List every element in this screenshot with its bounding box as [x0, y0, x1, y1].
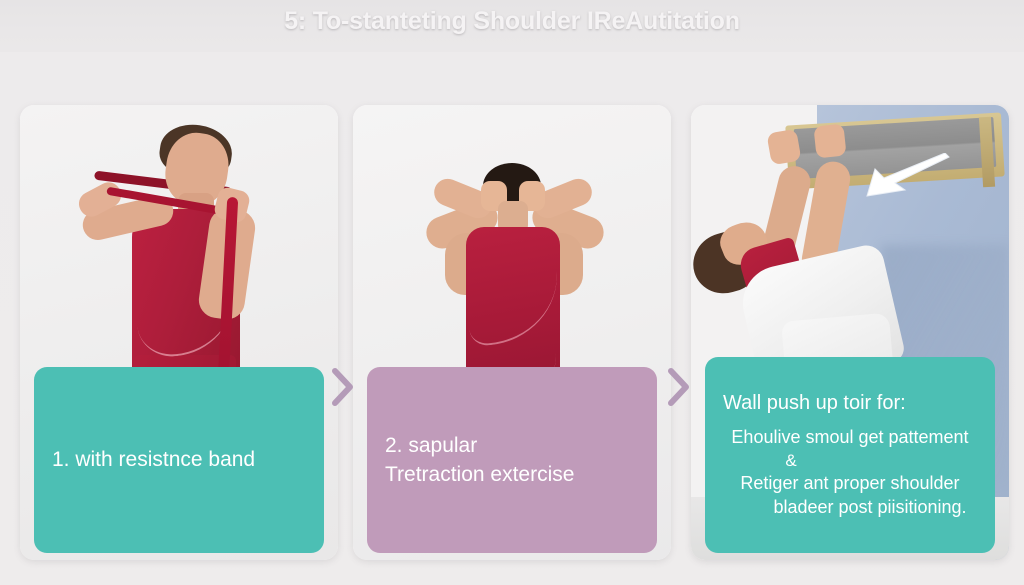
- panel-3[interactable]: Wall push up toir for: Ehoulive smoul ge…: [691, 105, 1009, 560]
- panel-1-caption: 1. with resistnce band: [34, 367, 324, 553]
- caption-line: 2. sapular: [385, 432, 477, 460]
- panel-1[interactable]: 1. with resistnce band: [20, 105, 338, 560]
- panel-2[interactable]: 2. sapular Tretraction extercise: [353, 105, 671, 560]
- caption-line: bladeer post piisitioning.: [773, 496, 966, 520]
- white-arrow-icon: [861, 153, 953, 199]
- caption-line: 1. with resistnce band: [52, 446, 255, 474]
- panel-2-caption: 2. sapular Tretraction extercise: [367, 367, 657, 553]
- person-left-hand: [766, 129, 801, 166]
- caption-line: Retiger ant proper shoulder: [740, 472, 959, 496]
- caption-line: Tretraction extercise: [385, 461, 574, 489]
- page-title: 5: To-stanteting Shoulder IReAutitation: [0, 7, 1024, 36]
- person-right-hand: [813, 124, 846, 159]
- caption-line: &: [785, 450, 796, 473]
- chevron-right-icon: [666, 367, 692, 407]
- panel-3-caption: Wall push up toir for: Ehoulive smoul ge…: [705, 357, 995, 553]
- caption-line: Ehoulive smoul get pattement: [731, 426, 968, 450]
- caption-line: Wall push up toir for:: [723, 390, 906, 417]
- infographic-root: 5: To-stanteting Shoulder IReAutitation: [0, 0, 1024, 585]
- chevron-right-icon: [330, 367, 356, 407]
- panels-row: 1. with resistnce band: [0, 105, 1024, 560]
